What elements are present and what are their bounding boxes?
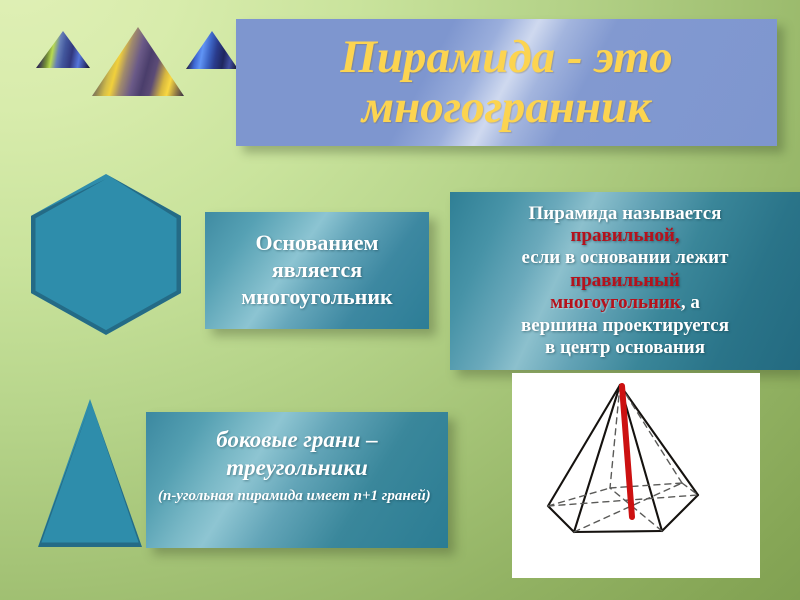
slide-canvas: Пирамида - это многогранник Основанием я… [0, 0, 800, 600]
hexagonal-pyramid-diagram [512, 373, 760, 578]
base-edge-left [548, 506, 574, 532]
edge-apex-front-left [574, 385, 620, 532]
base-diagonal-1 [548, 495, 698, 506]
title-box: Пирамида - это многогранник [236, 19, 777, 146]
base-edge-right [662, 495, 698, 531]
callout-regular-line-5-tail: , а [681, 292, 700, 313]
triangle-shape [38, 399, 142, 547]
callout-regular-line-2: правильной, [458, 225, 792, 247]
hexagon-outline [31, 174, 181, 335]
callout-regular-line-5: многоугольник, а [458, 292, 792, 314]
callout-regular-line-5-red: многоугольник [550, 292, 681, 313]
base-edge-front [574, 531, 662, 532]
base-diagonal-3 [610, 488, 662, 531]
callout-faces-note: (n-угольная пирамида имеет n+1 граней) [158, 487, 436, 507]
pyramid-clipart-right-icon [186, 31, 238, 69]
callout-base-polygon: Основанием является многоугольник [205, 212, 429, 329]
pyramid-clipart-left-body [36, 31, 90, 68]
pyramid-clipart-center-icon [92, 27, 184, 96]
callout-base-line-3: многоугольник [215, 284, 419, 311]
callout-regular-line-3: если в основании лежит [458, 247, 792, 269]
callout-faces-heading: боковые грани – треугольники [158, 426, 436, 481]
base-edge-hidden-back [610, 483, 682, 488]
hexagonal-pyramid-svg [512, 373, 760, 578]
pyramid-clipart-left-icon [36, 31, 90, 68]
page-title: Пирамида - это многогранник [330, 33, 682, 132]
callout-regular-line-6: вершина проектируется [458, 315, 792, 337]
pyramid-clipart-center-body [92, 27, 184, 96]
callout-regular-line-1: Пирамида называется [458, 203, 792, 225]
callout-regular-pyramid: Пирамида называется правильной, если в о… [450, 192, 800, 370]
edge-apex-left [548, 385, 620, 506]
callout-lateral-faces: боковые грани – треугольники (n-угольная… [146, 412, 448, 548]
callout-base-line-2: является [215, 257, 419, 284]
pyramid-clipart-right-body [186, 31, 238, 69]
triangle-outline [38, 399, 142, 547]
callout-regular-line-7: в центр основания [458, 337, 792, 359]
hexagon-shape [31, 174, 181, 335]
callout-base-line-1: Основанием [215, 230, 419, 257]
callout-regular-line-4: правильный [458, 270, 792, 292]
